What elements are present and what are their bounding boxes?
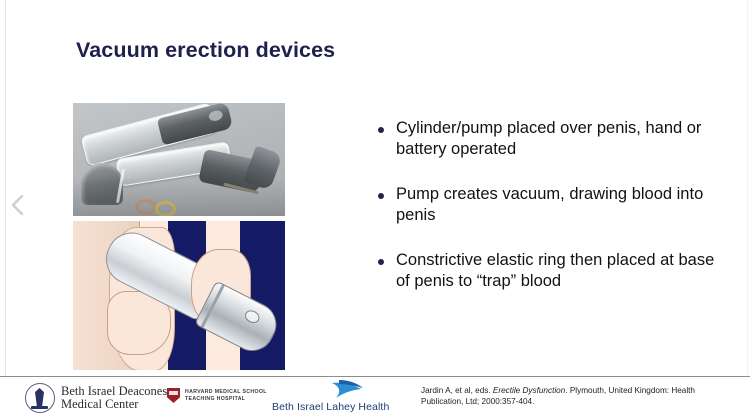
slide-left-edge: [5, 0, 6, 376]
swoosh-arrow-icon: [330, 379, 364, 399]
previous-slide-button[interactable]: [6, 190, 28, 220]
citation-text: Jardin A, et al, eds. Erectile Dysfuncti…: [421, 386, 731, 407]
harvard-logo-line1: HARVARD MEDICAL SCHOOL: [185, 389, 267, 396]
bullet-marker-icon: [378, 259, 384, 265]
bullet-list: Cylinder/pump placed over penis, hand or…: [378, 118, 718, 316]
list-item: Pump creates vacuum, drawing blood into …: [378, 184, 718, 226]
bidmc-seal-icon: [25, 383, 55, 413]
citation-title: Erectile Dysfunction: [493, 386, 565, 395]
harvard-medical-school-logo: HARVARD MEDICAL SCHOOL TEACHING HOSPITAL: [167, 388, 267, 403]
slide-canvas: Vacuum erection devices Cylinder/pump: [0, 0, 750, 420]
footer: Beth Israel Deaconess Medical Center HAR…: [0, 377, 750, 420]
bilh-logo-text: Beth Israel Lahey Health: [272, 401, 389, 413]
list-item: Cylinder/pump placed over penis, hand or…: [378, 118, 718, 160]
harvard-logo-text: HARVARD MEDICAL SCHOOL TEACHING HOSPITAL: [185, 389, 267, 403]
page-title: Vacuum erection devices: [76, 38, 335, 63]
vacuum-device-illustration: [73, 221, 285, 370]
bidmc-logo-line1: Beth Israel Deaconess: [61, 385, 172, 399]
bullet-marker-icon: [378, 127, 384, 133]
citation-prefix: Jardin A, et al, eds.: [421, 386, 493, 395]
vacuum-device-photo: [73, 103, 285, 216]
harvard-logo-line2: TEACHING HOSPITAL: [185, 396, 267, 403]
bidmc-logo: Beth Israel Deaconess Medical Center: [25, 383, 172, 413]
slide-right-edge: [747, 0, 748, 376]
bidmc-logo-line2: Medical Center: [61, 398, 172, 412]
list-item: Constrictive elastic ring then placed at…: [378, 250, 718, 292]
photo-shadow: [73, 178, 285, 216]
chevron-left-icon: [11, 194, 24, 216]
bidmc-logo-text: Beth Israel Deaconess Medical Center: [61, 385, 172, 412]
bullet-marker-icon: [378, 193, 384, 199]
bullet-text: Constrictive elastic ring then placed at…: [396, 250, 718, 292]
bullet-text: Pump creates vacuum, drawing blood into …: [396, 184, 718, 226]
bullet-text: Cylinder/pump placed over penis, hand or…: [396, 118, 718, 160]
harvard-shield-icon: [167, 388, 180, 403]
